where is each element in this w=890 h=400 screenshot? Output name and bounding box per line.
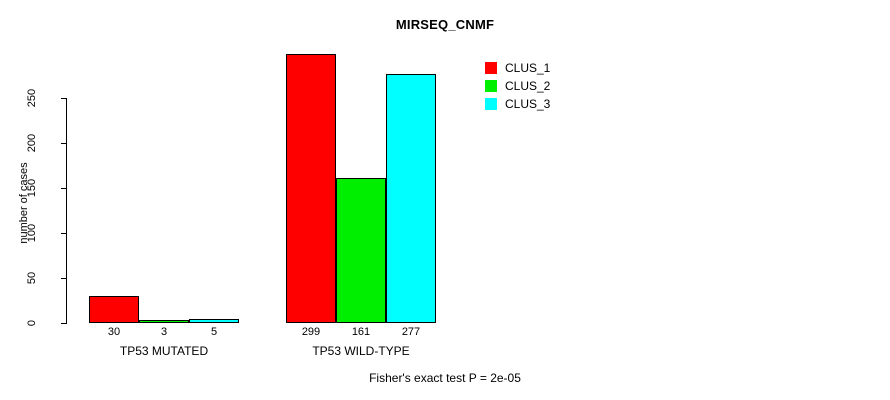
y-axis-line xyxy=(66,98,67,324)
y-tick-mark xyxy=(61,233,66,234)
page-title: MIRSEQ_CNMF xyxy=(0,17,890,32)
bar-clus_3-group-2[interactable] xyxy=(386,74,436,323)
bar-value-label: 3 xyxy=(139,326,189,338)
bar-value-label: 299 xyxy=(286,326,336,338)
bar-value-label: 161 xyxy=(336,326,386,338)
bar-clus_2-group-2[interactable] xyxy=(336,178,386,323)
y-tick-mark xyxy=(61,98,66,99)
legend-item-label: CLUS_3 xyxy=(505,96,550,112)
x-axis-group-label: TP53 WILD-TYPE xyxy=(246,344,476,358)
chart-canvas: MIRSEQ_CNMF 250200150100500 number of ca… xyxy=(0,0,890,400)
y-tick-label: 250 xyxy=(26,78,38,118)
y-tick-mark xyxy=(61,323,66,324)
legend-item-label: CLUS_2 xyxy=(505,78,550,94)
statistics-annotation: Fisher's exact test P = 2e-05 xyxy=(0,371,890,385)
bar-value-label: 30 xyxy=(89,326,139,338)
bar-clus_1-group-2[interactable] xyxy=(286,54,336,323)
x-axis-group-label: TP53 MUTATED xyxy=(49,344,279,358)
y-tick-label: 50 xyxy=(26,258,38,298)
bar-clus_3-group-1[interactable] xyxy=(189,319,239,324)
legend-color-swatch-icon xyxy=(485,80,497,92)
bar-clus_1-group-1[interactable] xyxy=(89,296,139,323)
y-tick-mark xyxy=(61,188,66,189)
y-tick-mark xyxy=(61,143,66,144)
bar-clus_2-group-1[interactable] xyxy=(139,320,189,323)
bar-value-label: 277 xyxy=(386,326,436,338)
y-axis-title: number of cases xyxy=(18,143,30,263)
y-tick-mark xyxy=(61,278,66,279)
legend-item-label: CLUS_1 xyxy=(505,60,550,76)
legend-color-swatch-icon xyxy=(485,98,497,110)
y-tick-label: 0 xyxy=(26,303,38,343)
bar-value-label: 5 xyxy=(189,326,239,338)
legend-color-swatch-icon xyxy=(485,62,497,74)
